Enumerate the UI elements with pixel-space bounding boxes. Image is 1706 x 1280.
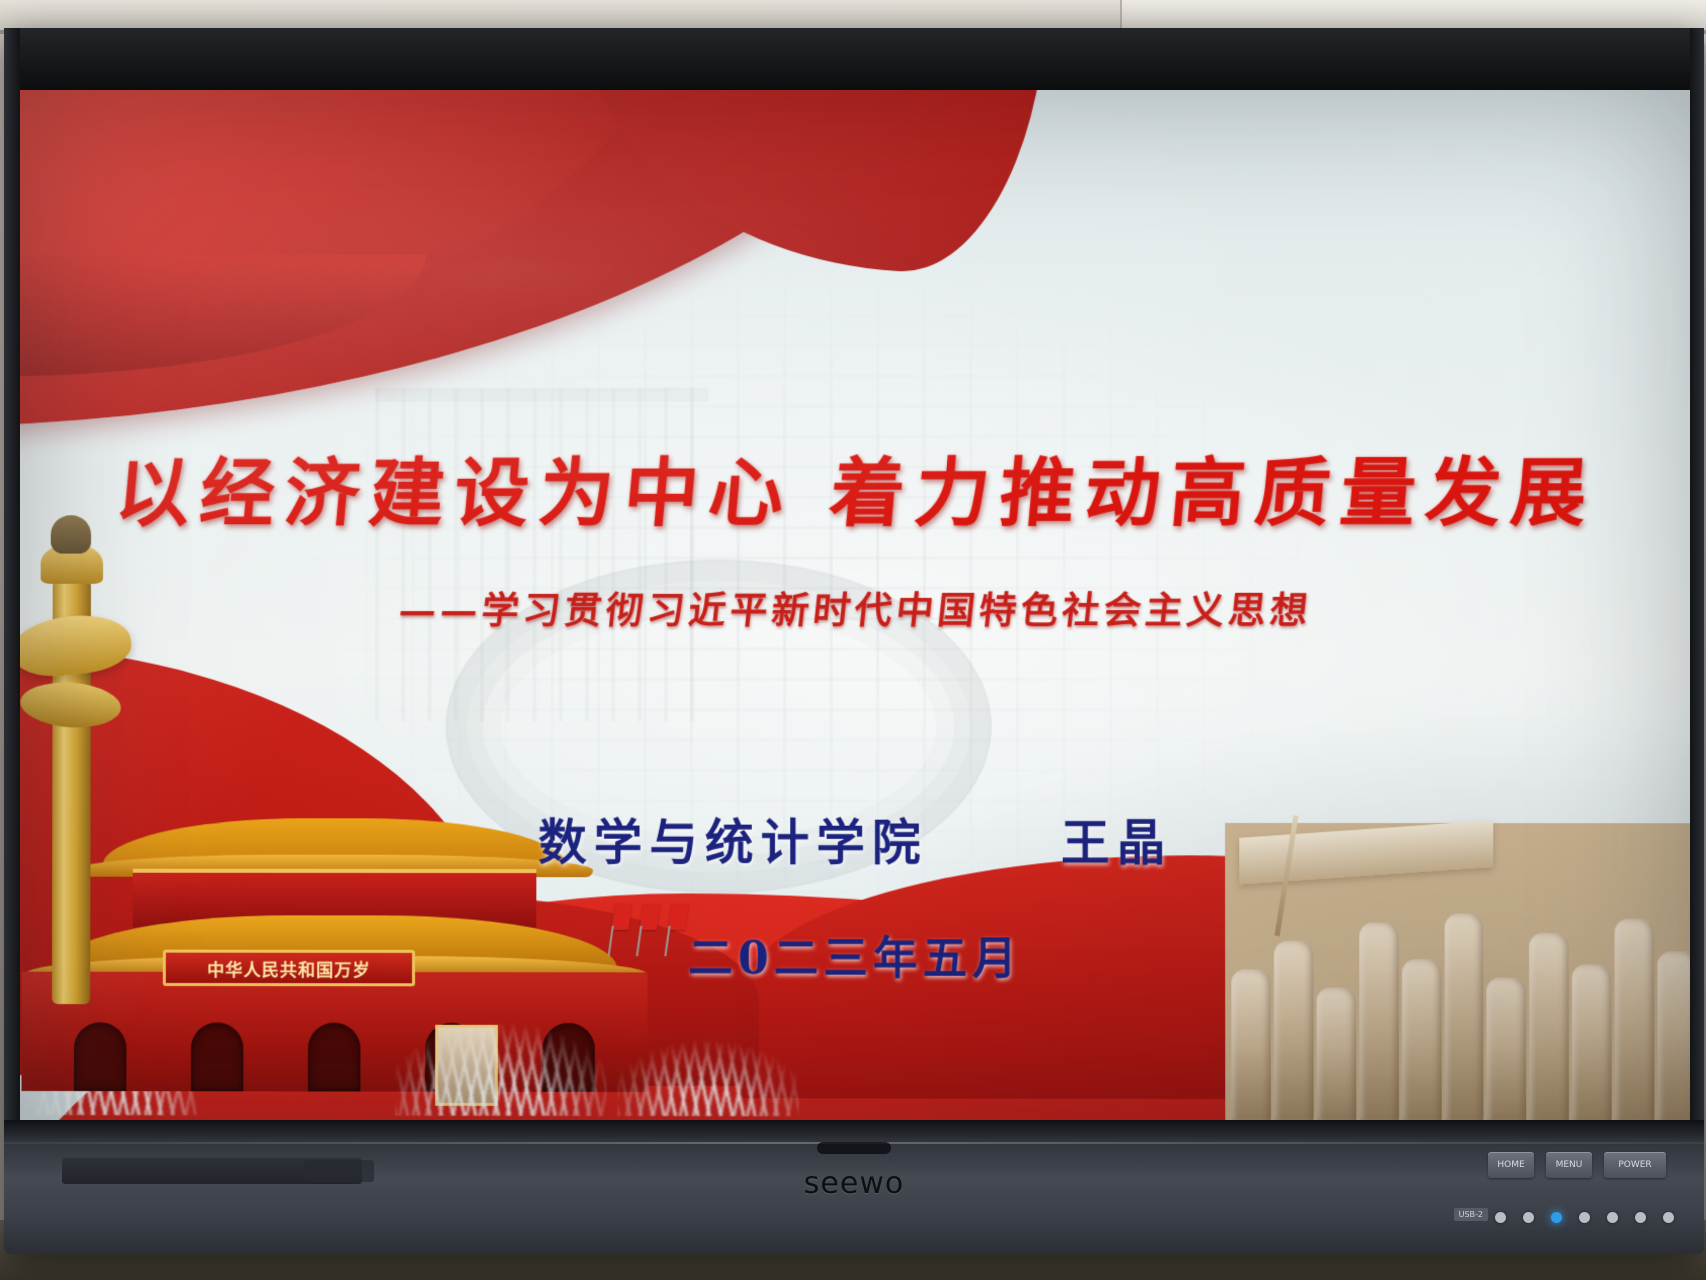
huabiao-cloud-board-2 xyxy=(20,679,122,730)
gate-arch xyxy=(74,1022,127,1091)
gate-arch xyxy=(308,1023,361,1092)
display-bezel-right xyxy=(1690,28,1704,1138)
display-bezel-left xyxy=(4,28,20,1138)
ir-sensor xyxy=(817,1142,891,1154)
status-led-row xyxy=(1495,1212,1674,1223)
usb-port-label: USB-2 xyxy=(1454,1208,1488,1221)
hardware-button-group[interactable]: HOME MENU POWER xyxy=(1488,1152,1666,1178)
gate-arch xyxy=(191,1022,244,1091)
home-button[interactable]: HOME xyxy=(1488,1152,1534,1178)
seewo-display-unit: 中华人民共和国万岁 xyxy=(4,28,1704,1254)
status-led xyxy=(1579,1212,1590,1223)
status-led xyxy=(1635,1212,1646,1223)
tiananmen-gate-illustration: 中华人民共和国万岁 xyxy=(20,701,678,1120)
relief-figure xyxy=(1316,987,1356,1120)
slide-subtitle: ——学习贯彻习近平新时代中国特色社会主义思想 xyxy=(20,580,1690,635)
display-screen[interactable]: 中华人民共和国万岁 xyxy=(20,90,1690,1120)
relief-figure xyxy=(1487,977,1527,1120)
relief-figure xyxy=(1231,969,1271,1120)
presentation-slide[interactable]: 中华人民共和国万岁 xyxy=(20,90,1690,1120)
status-led xyxy=(1523,1212,1534,1223)
seewo-brand-logo: seewo xyxy=(4,1166,1704,1201)
slide-byline: 数学与统计学院 王晶 xyxy=(20,802,1690,874)
display-bezel-top xyxy=(4,28,1704,90)
status-led xyxy=(1607,1212,1618,1223)
slide-date: 二0二三年五月 xyxy=(20,921,1690,988)
slide-title: 以经济建设为中心 着力推动高质量发展 xyxy=(20,432,1690,541)
power-led xyxy=(1551,1212,1562,1223)
fountain-center xyxy=(395,1005,607,1117)
status-led xyxy=(1495,1212,1506,1223)
department-label: 数学与统计学院 xyxy=(538,814,928,871)
presenter-name: 王晶 xyxy=(1061,815,1173,872)
power-button[interactable]: POWER xyxy=(1604,1152,1666,1178)
menu-button[interactable]: MENU xyxy=(1546,1152,1592,1178)
display-bezel-bottom: seewo HOME MENU POWER USB-2 xyxy=(4,1120,1704,1254)
status-led xyxy=(1663,1212,1674,1223)
fountain-right xyxy=(617,1025,799,1117)
